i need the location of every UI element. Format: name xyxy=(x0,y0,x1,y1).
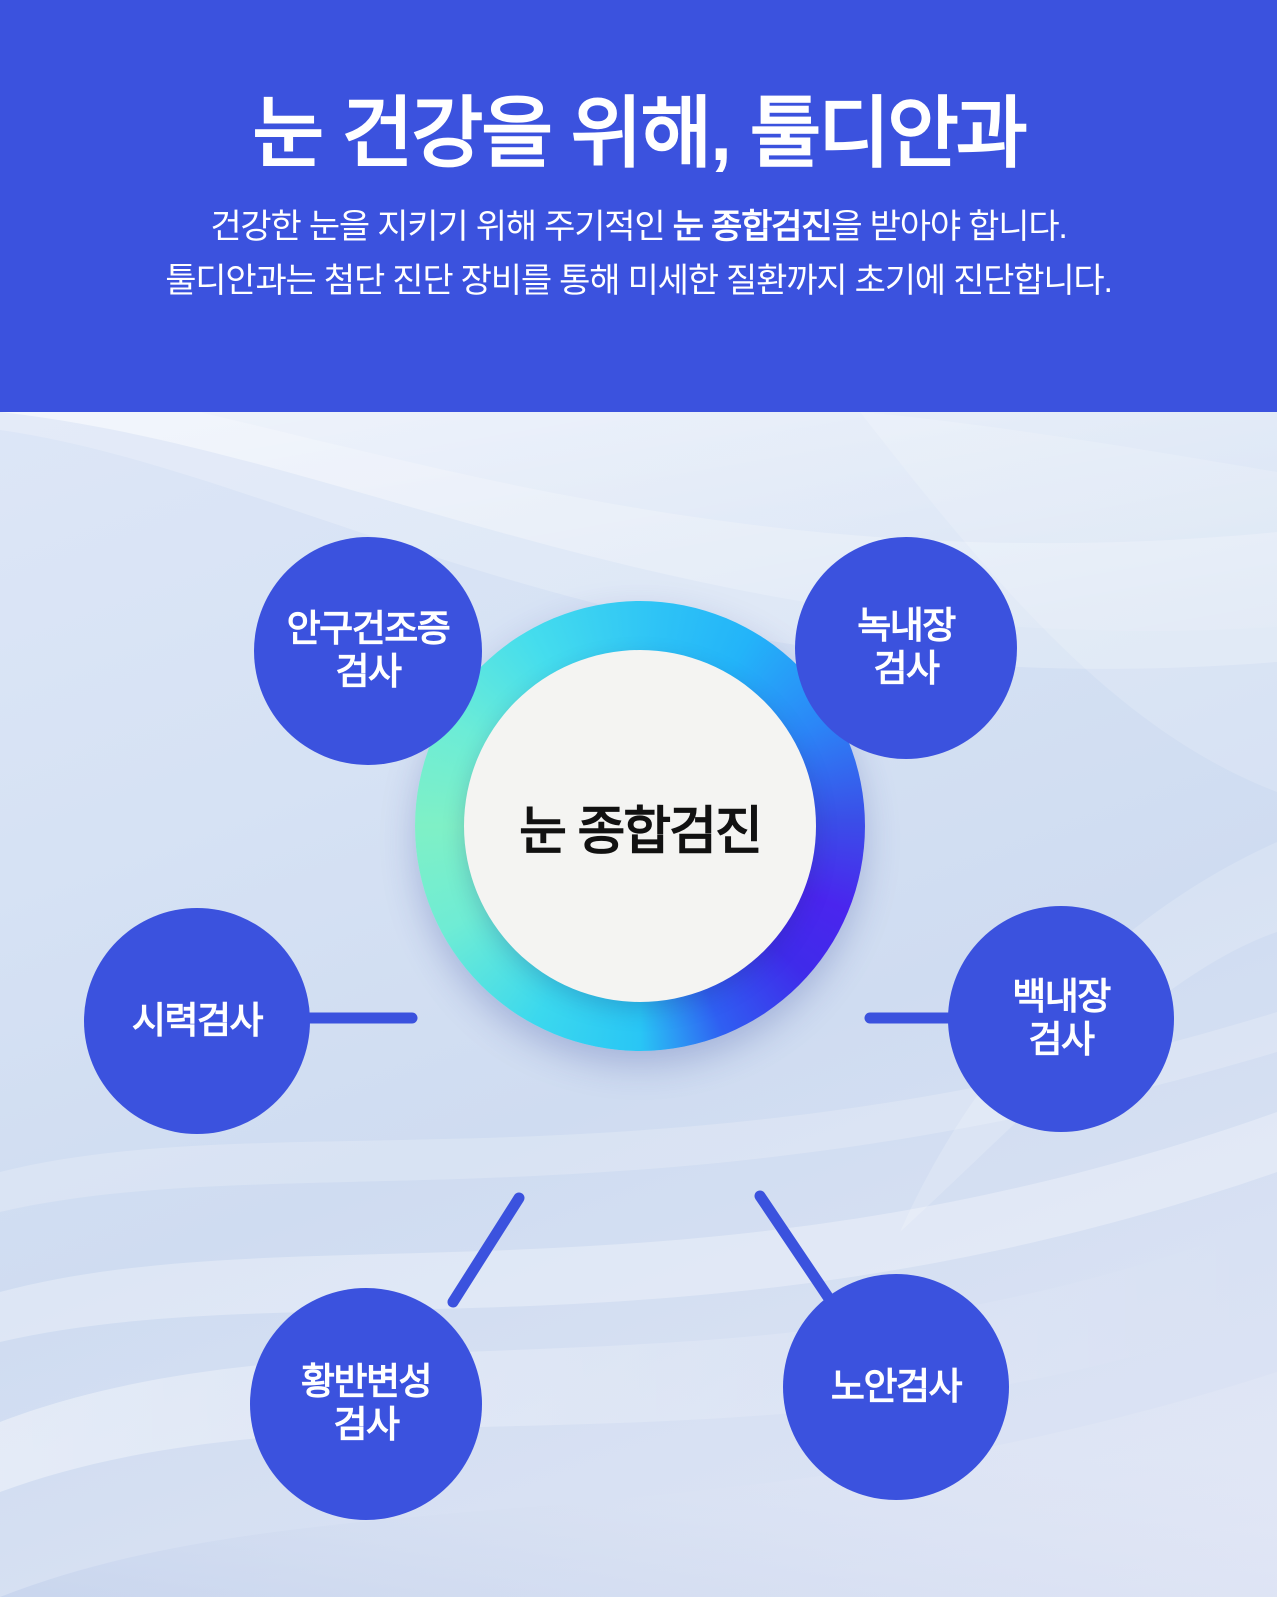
node-cataract-test-label: 백내장 검사 xyxy=(1006,976,1116,1062)
node-vision-test-label: 시력검사 xyxy=(126,1000,268,1043)
page-title: 눈 건강을 위해, 툴디안과 xyxy=(252,92,1024,175)
node-dry-eye-test-label: 안구건조증 검사 xyxy=(281,608,456,694)
subtitle-line-2: 툴디안과는 첨단 진단 장비를 통해 미세한 질환까지 초기에 진단합니다. xyxy=(165,255,1112,308)
center-node-label: 눈 종합검진 xyxy=(519,789,761,864)
connector-line-pres xyxy=(760,1196,830,1300)
node-glaucoma-test[interactable]: 녹내장 검사 xyxy=(795,537,1017,759)
header-banner: 눈 건강을 위해, 툴디안과 건강한 눈을 지키기 위해 주기적인 눈 종합검진… xyxy=(0,0,1277,412)
center-node-inner: 눈 종합검진 xyxy=(464,650,816,1002)
node-macular-degeneration-test-label: 황반변성 검사 xyxy=(295,1361,437,1447)
infographic-page: 눈 건강을 위해, 툴디안과 건강한 눈을 지키기 위해 주기적인 눈 종합검진… xyxy=(0,0,1277,1597)
diagram-area: 눈 종합검진 안구건조증 검사 녹내장 검사 백내장 검사 노안검사 황반변성 … xyxy=(0,412,1277,1597)
subtitle-1-part-a: 건강한 눈을 지키기 위해 주기적인 xyxy=(210,208,672,246)
node-macular-degeneration-test[interactable]: 황반변성 검사 xyxy=(250,1288,482,1520)
node-cataract-test[interactable]: 백내장 검사 xyxy=(948,906,1174,1132)
node-glaucoma-test-label: 녹내장 검사 xyxy=(851,605,961,691)
page-title-plain: 눈 건강을 위해, xyxy=(252,89,749,177)
subtitle-line-1: 건강한 눈을 지키기 위해 주기적인 눈 종합검진을 받아야 합니다. xyxy=(210,201,1066,254)
subtitle-1-emphasis: 눈 종합검진 xyxy=(673,208,832,246)
subtitle-1-part-b: 을 받아야 합니다. xyxy=(831,208,1066,246)
node-dry-eye-test[interactable]: 안구건조증 검사 xyxy=(254,537,482,765)
page-title-brand: 툴디안과 xyxy=(750,89,1025,177)
connector-line-mac xyxy=(453,1198,519,1302)
node-presbyopia-test-label: 노안검사 xyxy=(825,1366,967,1409)
node-vision-test[interactable]: 시력검사 xyxy=(84,908,310,1134)
node-presbyopia-test[interactable]: 노안검사 xyxy=(783,1274,1009,1500)
